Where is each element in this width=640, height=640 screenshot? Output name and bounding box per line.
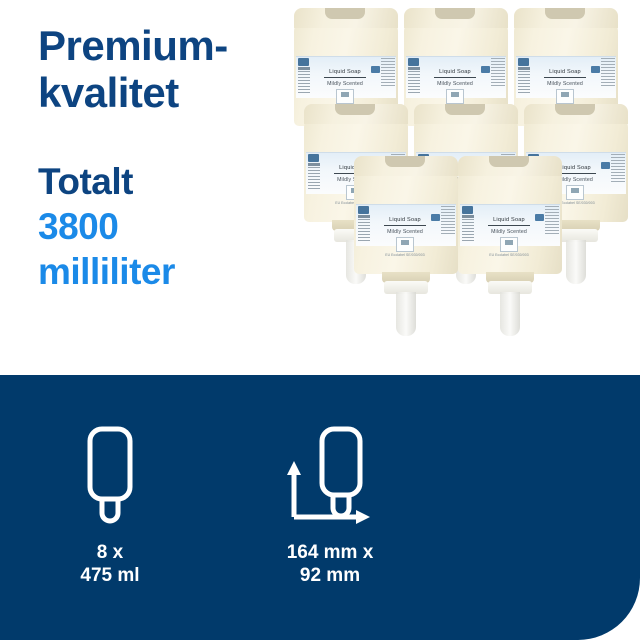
label-subtitle: Mildly Scented — [421, 81, 489, 87]
headline-line-1: Premium- — [38, 22, 288, 69]
bottle-label: Liquid Soap Mildly Scented EU Ecolabel S… — [406, 56, 506, 98]
label-badge — [591, 66, 600, 73]
bottle-dimensions-icon — [282, 420, 378, 525]
bottle-label: Liquid Soap Mildly Scented EU Ecolabel S… — [460, 204, 560, 246]
label-subtitle: Mildly Scented — [531, 81, 599, 87]
ecolabel-icon — [566, 185, 584, 200]
total-unit: milliliter — [38, 249, 288, 294]
headline-line-2: kvalitet — [38, 69, 288, 116]
label-subtitle: Mildly Scented — [475, 229, 543, 235]
label-subtitle: Mildly Scented — [371, 229, 439, 235]
label-title: Liquid Soap — [544, 69, 586, 78]
label-badge — [535, 214, 544, 221]
label-badge — [481, 66, 490, 73]
spec-item-dimensions: 164 mm x 92 mm — [220, 420, 440, 587]
soap-bottle-icon — [78, 420, 142, 525]
bottle-label: Liquid Soap Mildly Scented EU Ecolabel S… — [516, 56, 616, 98]
total-value-group: 3800 milliliter — [38, 204, 288, 294]
label-footer: EU Ecolabel SE/030/003 — [475, 253, 543, 257]
ecolabel-icon — [446, 89, 464, 104]
product-bottle: Liquid Soap Mildly Scented EU Ecolabel S… — [354, 170, 458, 274]
ecolabel-icon — [556, 89, 574, 104]
ecolabel-icon — [396, 237, 414, 252]
product-bottle: Liquid Soap Mildly Scented EU Ecolabel S… — [458, 170, 562, 274]
label-badge — [601, 162, 610, 169]
label-title: Liquid Soap — [488, 217, 530, 226]
copy-block: Premium- kvalitet Totalt 3800 milliliter — [38, 22, 288, 294]
spec-caption: 8 x 475 ml — [80, 541, 139, 587]
specs-panel: 8 x 475 ml 164 mm x — [0, 375, 640, 640]
bottle-label: Liquid Soap Mildly Scented EU Ecolabel S… — [296, 56, 396, 98]
ecolabel-icon — [500, 237, 518, 252]
label-badge — [371, 66, 380, 73]
bottle-label: Liquid Soap Mildly Scented EU Ecolabel S… — [356, 204, 456, 246]
label-title: Liquid Soap — [384, 217, 426, 226]
label-title: Liquid Soap — [434, 69, 476, 78]
specs-list: 8 x 475 ml 164 mm x — [0, 420, 440, 587]
product-image: Liquid Soap Mildly Scented EU Ecolabel S… — [282, 0, 640, 375]
label-footer: EU Ecolabel SE/030/003 — [371, 253, 439, 257]
spec-caption-line-2: 475 ml — [80, 564, 139, 587]
total-volume-block: Totalt 3800 milliliter — [38, 159, 288, 294]
label-badge — [431, 214, 440, 221]
product-info-graphic: Premium- kvalitet Totalt 3800 milliliter… — [0, 0, 640, 640]
total-label: Totalt — [38, 159, 288, 204]
spec-caption-line-2: 92 mm — [287, 564, 374, 587]
spec-caption-line-1: 164 mm x — [287, 541, 374, 564]
spec-caption: 164 mm x 92 mm — [287, 541, 374, 587]
total-value: 3800 — [38, 204, 288, 249]
spec-item-quantity: 8 x 475 ml — [0, 420, 220, 587]
label-title: Liquid Soap — [324, 69, 366, 78]
page-title: Premium- kvalitet — [38, 22, 288, 116]
label-subtitle: Mildly Scented — [311, 81, 379, 87]
spec-caption-line-1: 8 x — [80, 541, 139, 564]
ecolabel-icon — [336, 89, 354, 104]
